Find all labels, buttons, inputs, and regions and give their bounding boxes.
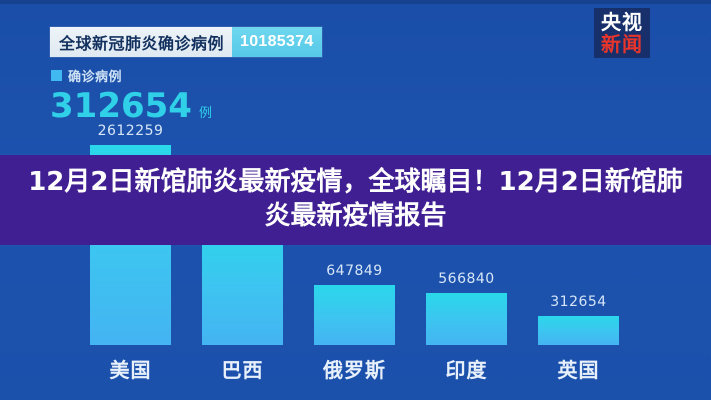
bar bbox=[314, 285, 395, 345]
infographic-screenshot: 2612259美国1368195巴西647849俄罗斯566840印度31265… bbox=[0, 0, 711, 400]
header-title-pill: 全球新冠肺炎确诊病例 10185374 bbox=[50, 27, 322, 57]
chart-title: 全球新冠肺炎确诊病例 bbox=[50, 27, 232, 57]
bar-category-label: 俄罗斯 bbox=[314, 354, 395, 383]
bar-value-label: 566840 bbox=[426, 271, 507, 287]
global-case-count: 10185374 bbox=[232, 27, 322, 57]
bar-value-label: 312654 bbox=[538, 294, 619, 310]
chart-legend: 确诊病例 bbox=[51, 66, 122, 85]
highlighted-stat-unit: 例 bbox=[199, 102, 212, 121]
headline-text: 12月2日新馆肺炎最新疫情，全球瞩目！12月2日新馆肺炎最新疫情报告 bbox=[0, 166, 711, 234]
legend-swatch-icon bbox=[51, 70, 62, 81]
legend-label: 确诊病例 bbox=[68, 66, 122, 85]
bar bbox=[426, 293, 507, 345]
bar-category-label: 英国 bbox=[538, 354, 619, 383]
bar-group: 312654英国 bbox=[538, 316, 619, 345]
bar-group: 647849俄罗斯 bbox=[314, 285, 395, 345]
bar-category-label: 印度 bbox=[426, 354, 507, 383]
bar-group: 566840印度 bbox=[426, 293, 507, 345]
bar-category-label: 美国 bbox=[90, 354, 171, 383]
bar-category-label: 巴西 bbox=[202, 354, 283, 383]
bar bbox=[538, 316, 619, 345]
headline-overlay-band: 12月2日新馆肺炎最新疫情，全球瞩目！12月2日新馆肺炎最新疫情报告 bbox=[0, 155, 711, 245]
bar-value-label: 647849 bbox=[314, 263, 395, 279]
highlighted-stat-number: 312654 bbox=[50, 86, 192, 126]
highlighted-stat: 312654 例 bbox=[50, 86, 212, 126]
cctv-news-logo: 央视 新闻 bbox=[594, 8, 650, 58]
cctv-logo-line-1: 央视 bbox=[601, 12, 643, 32]
cctv-logo-line-2: 新闻 bbox=[601, 34, 643, 54]
